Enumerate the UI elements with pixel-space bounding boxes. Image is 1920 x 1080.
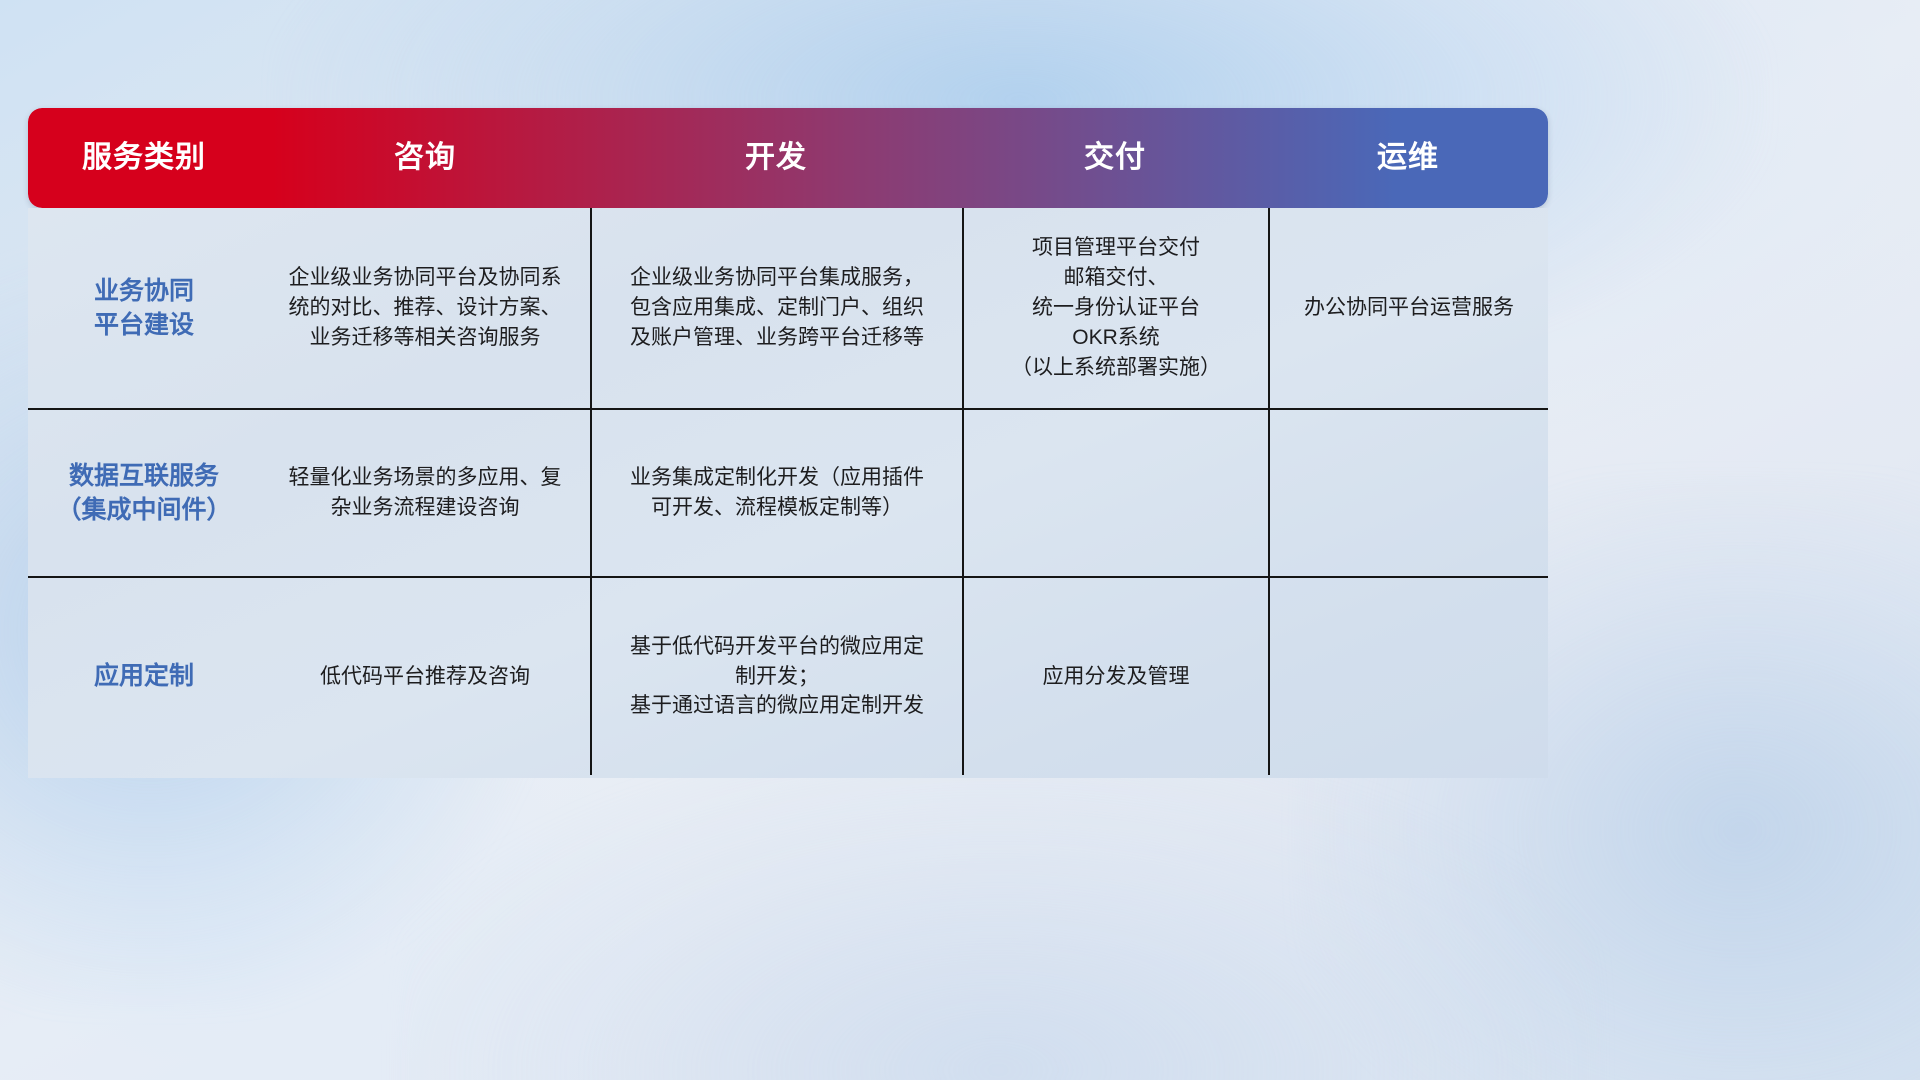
table-row: 数据互联服务 （集成中间件） 轻量化业务场景的多应用、复 杂业务流程建设咨询 业… bbox=[28, 408, 1548, 576]
cell-r1-consulting: 企业级业务协同平台及协同系 统的对比、推荐、设计方案、 业务迁移等相关咨询服务 bbox=[260, 208, 590, 408]
background-glow-bottom bbox=[398, 760, 1598, 1080]
cell-r3-operations bbox=[1268, 578, 1548, 775]
cell-r2-consulting: 轻量化业务场景的多应用、复 杂业务流程建设咨询 bbox=[260, 410, 590, 576]
table-header-row: 服务类别 咨询 开发 交付 运维 bbox=[28, 108, 1548, 208]
row-label-data-interconnect: 数据互联服务 （集成中间件） bbox=[28, 410, 260, 576]
table-body: 业务协同 平台建设 企业级业务协同平台及协同系 统的对比、推荐、设计方案、 业务… bbox=[28, 208, 1548, 778]
cell-r2-development: 业务集成定制化开发（应用插件 可开发、流程模板定制等） bbox=[590, 410, 962, 576]
cell-r2-operations bbox=[1268, 410, 1548, 576]
cell-r1-operations: 办公协同平台运营服务 bbox=[1268, 208, 1548, 408]
column-header-delivery[interactable]: 交付 bbox=[962, 143, 1268, 173]
cell-r3-development: 基于低代码开发平台的微应用定 制开发； 基于通过语言的微应用定制开发 bbox=[590, 578, 962, 775]
cell-r1-development: 企业级业务协同平台集成服务， 包含应用集成、定制门户、组织 及账户管理、业务跨平… bbox=[590, 208, 962, 408]
table-row: 业务协同 平台建设 企业级业务协同平台及协同系 统的对比、推荐、设计方案、 业务… bbox=[28, 208, 1548, 408]
cell-r3-consulting: 低代码平台推荐及咨询 bbox=[260, 578, 590, 775]
cell-r2-delivery bbox=[962, 410, 1268, 576]
row-label-business-collaboration: 业务协同 平台建设 bbox=[28, 208, 260, 408]
cell-r1-delivery: 项目管理平台交付 邮箱交付、 统一身份认证平台 OKR系统 （以上系统部署实施） bbox=[962, 208, 1268, 408]
column-header-operations[interactable]: 运维 bbox=[1268, 143, 1548, 173]
column-header-consulting[interactable]: 咨询 bbox=[260, 143, 590, 173]
row-label-app-customization: 应用定制 bbox=[28, 578, 260, 775]
cell-r3-delivery: 应用分发及管理 bbox=[962, 578, 1268, 775]
service-matrix-table: 服务类别 咨询 开发 交付 运维 业务协同 平台建设 企业级业务协同平台及协同系… bbox=[28, 108, 1548, 778]
table-row: 应用定制 低代码平台推荐及咨询 基于低代码开发平台的微应用定 制开发； 基于通过… bbox=[28, 576, 1548, 775]
column-header-category[interactable]: 服务类别 bbox=[28, 143, 260, 173]
column-header-development[interactable]: 开发 bbox=[590, 143, 962, 173]
